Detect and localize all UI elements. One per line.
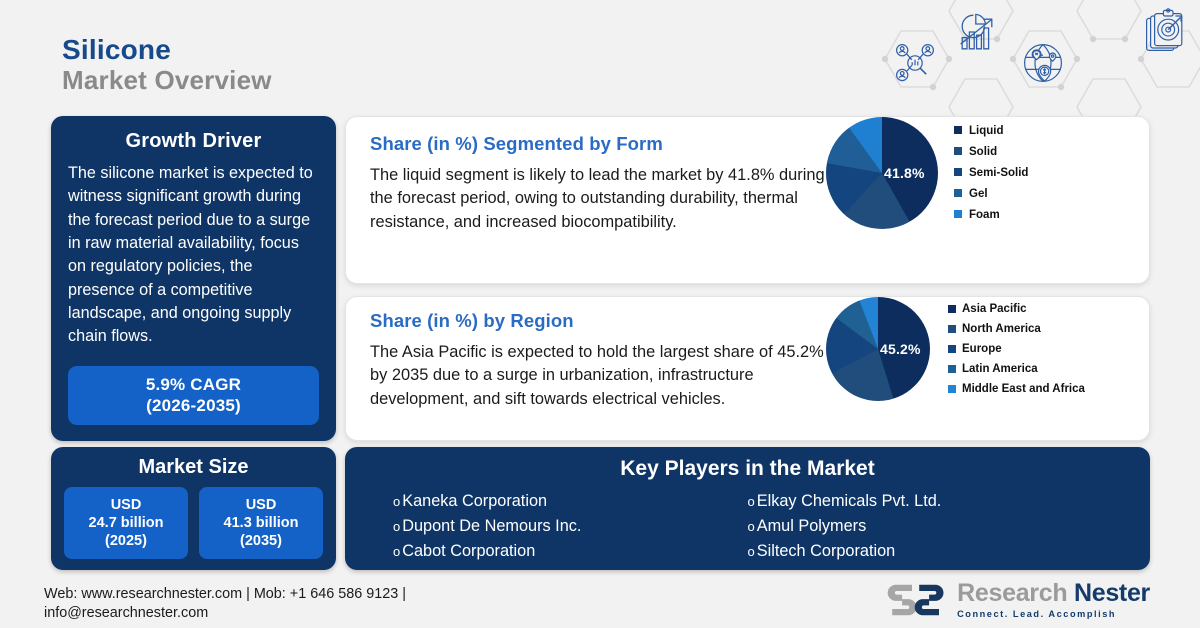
share-by-form-body: The liquid segment is likely to lead the… — [370, 164, 826, 234]
footer-contact: Web: www.researchnester.com | Mob: +1 64… — [44, 585, 406, 623]
logo-word-research: Research — [957, 579, 1067, 607]
region-pie-chart: 45.2% — [826, 297, 930, 401]
market-size-values: USD 24.7 billion (2025) USD 41.3 billion… — [64, 487, 323, 559]
legend-item: North America — [948, 323, 1085, 335]
bullet-icon: o — [748, 517, 755, 537]
footer-line-2: info@researchnester.com — [44, 604, 406, 623]
legend-label: Solid — [969, 146, 997, 158]
value-label: 24.7 billion — [68, 514, 184, 532]
network-people-magnifier-icon — [897, 45, 934, 81]
legend-swatch — [954, 147, 962, 155]
legend-swatch — [948, 365, 956, 373]
legend-swatch — [954, 210, 962, 218]
key-player-item: oAmul Polymers — [748, 514, 1103, 539]
share-by-region-body: The Asia Pacific is expected to hold the… — [370, 341, 826, 411]
key-player-name: Cabot Corporation — [402, 539, 535, 564]
form-pie-legend: LiquidSolidSemi-SolidGelFoam — [954, 125, 1028, 221]
hexagon-decoration — [855, 0, 1200, 118]
bullet-icon: o — [393, 542, 400, 562]
globe-dollar-location-icon — [1025, 45, 1062, 82]
legend-label: Latin America — [962, 363, 1038, 375]
key-players-title: Key Players in the Market — [345, 457, 1150, 481]
growth-driver-title: Growth Driver — [68, 130, 319, 153]
bullet-icon: o — [393, 517, 400, 537]
legend-swatch — [954, 168, 962, 176]
cagr-value: 5.9% CAGR — [74, 375, 313, 395]
market-size-title: Market Size — [64, 456, 323, 479]
region-pie-legend: Asia PacificNorth AmericaEuropeLatin Ame… — [948, 303, 1085, 395]
legend-swatch — [948, 305, 956, 313]
legend-label: Gel — [969, 188, 988, 200]
key-players-card: Key Players in the Market oKaneka Corpor… — [345, 447, 1150, 570]
market-size-box-2035: USD 41.3 billion (2035) — [199, 487, 323, 559]
legend-swatch — [948, 345, 956, 353]
market-size-card: Market Size USD 24.7 billion (2025) USD … — [51, 447, 336, 570]
legend-swatch — [948, 325, 956, 333]
key-player-name: Siltech Corporation — [757, 539, 895, 564]
legend-label: Semi-Solid — [969, 167, 1028, 179]
key-player-item: oDupont De Nemours Inc. — [393, 514, 748, 539]
key-player-item: oSiltech Corporation — [748, 539, 1103, 564]
region-chart-area: 45.2% Asia PacificNorth AmericaEuropeLat… — [826, 297, 1149, 401]
growth-driver-body: The silicone market is expected to witne… — [68, 162, 319, 366]
legend-label: North America — [962, 323, 1041, 335]
footer-line-1: Web: www.researchnester.com | Mob: +1 64… — [44, 585, 406, 604]
clipboard-target-icon — [1147, 9, 1182, 51]
key-players-columns: oKaneka CorporationoDupont De Nemours In… — [345, 489, 1150, 563]
year-label: (2025) — [68, 532, 184, 550]
title-subtitle: Market Overview — [62, 65, 272, 96]
growth-driver-card: Growth Driver The silicone market is exp… — [51, 116, 336, 441]
key-player-name: Dupont De Nemours Inc. — [402, 514, 581, 539]
key-player-item: oCabot Corporation — [393, 539, 748, 564]
legend-item: Asia Pacific — [948, 303, 1085, 315]
key-player-name: Kaneka Corporation — [402, 489, 547, 514]
logo-text: Research Nester Connect. Lead. Accomplis… — [957, 581, 1150, 619]
legend-swatch — [948, 385, 956, 393]
legend-label: Liquid — [969, 125, 1004, 137]
legend-item: Foam — [954, 209, 1028, 221]
bullet-icon: o — [748, 542, 755, 562]
share-by-region-heading: Share (in %) by Region — [370, 310, 826, 332]
legend-item: Middle East and Africa — [948, 383, 1085, 395]
share-by-form-text: Share (in %) Segmented by Form The liqui… — [346, 117, 826, 234]
share-by-region-text: Share (in %) by Region The Asia Pacific … — [346, 297, 826, 411]
form-pie-chart: 41.8% — [826, 117, 938, 229]
legend-item: Semi-Solid — [954, 167, 1028, 179]
key-player-name: Amul Polymers — [757, 514, 866, 539]
cagr-period: (2026-2035) — [74, 396, 313, 416]
legend-swatch — [954, 126, 962, 134]
year-label: (2035) — [203, 532, 319, 550]
key-player-item: oElkay Chemicals Pvt. Ltd. — [748, 489, 1103, 514]
form-chart-area: 41.8% LiquidSolidSemi-SolidGelFoam — [826, 117, 1149, 229]
bullet-icon: o — [748, 492, 755, 512]
legend-label: Foam — [969, 209, 1000, 221]
legend-label: Asia Pacific — [962, 303, 1027, 315]
legend-item: Solid — [954, 146, 1028, 158]
legend-item: Europe — [948, 343, 1085, 355]
research-nester-logo: Research Nester Connect. Lead. Accomplis… — [885, 581, 1150, 619]
key-players-column-right: oElkay Chemicals Pvt. Ltd.oAmul Polymers… — [748, 489, 1103, 563]
logo-word-nester: Nester — [1074, 579, 1150, 607]
currency-label: USD — [203, 496, 319, 514]
legend-label: Middle East and Africa — [962, 383, 1085, 395]
infographic-page: Silicone Market Overview Growth Driver T… — [0, 0, 1200, 628]
logo-tagline: Connect. Lead. Accomplish — [957, 609, 1150, 619]
bullet-icon: o — [393, 492, 400, 512]
share-by-region-card: Share (in %) by Region The Asia Pacific … — [345, 296, 1150, 441]
legend-item: Liquid — [954, 125, 1028, 137]
legend-item: Latin America — [948, 363, 1085, 375]
page-title: Silicone Market Overview — [62, 34, 272, 96]
legend-swatch — [954, 189, 962, 197]
logo-name: Research Nester — [957, 581, 1150, 606]
legend-item: Gel — [954, 188, 1028, 200]
region-pie-data-label: 45.2% — [880, 341, 921, 357]
legend-label: Europe — [962, 343, 1002, 355]
key-player-item: oKaneka Corporation — [393, 489, 748, 514]
value-label: 41.3 billion — [203, 514, 319, 532]
key-players-column-left: oKaneka CorporationoDupont De Nemours In… — [393, 489, 748, 563]
cagr-badge: 5.9% CAGR (2026-2035) — [68, 366, 319, 425]
form-pie-data-label: 41.8% — [884, 165, 925, 181]
key-player-name: Elkay Chemicals Pvt. Ltd. — [757, 489, 942, 514]
share-by-form-card: Share (in %) Segmented by Form The liqui… — [345, 116, 1150, 284]
logo-mark-icon — [885, 582, 948, 618]
currency-label: USD — [68, 496, 184, 514]
market-size-box-2025: USD 24.7 billion (2025) — [64, 487, 188, 559]
title-main: Silicone — [62, 34, 272, 65]
share-by-form-heading: Share (in %) Segmented by Form — [370, 133, 826, 155]
pie-bar-growth-chart-icon — [961, 14, 992, 48]
